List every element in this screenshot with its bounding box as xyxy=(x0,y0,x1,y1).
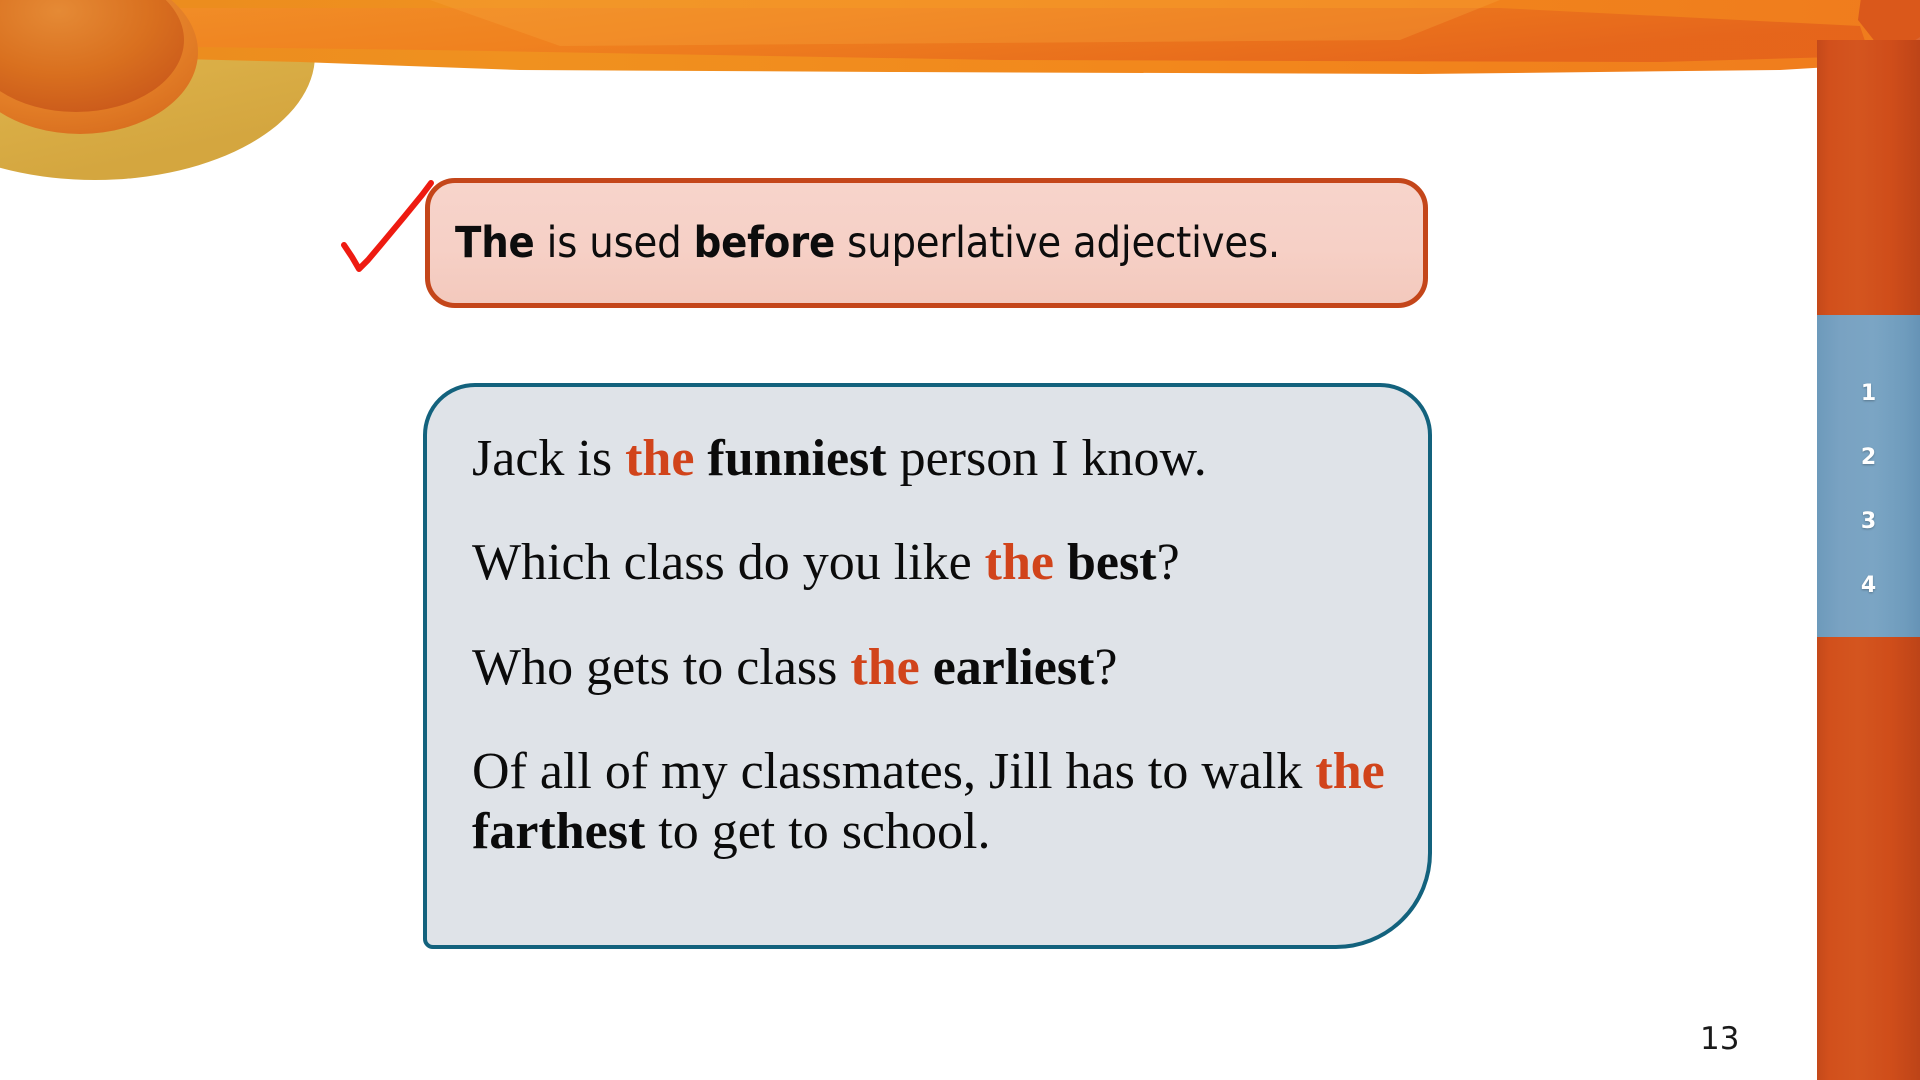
ex2-seg-2 xyxy=(1054,534,1067,591)
ex1-highlight-the: the xyxy=(625,430,694,487)
orange-swoosh-band xyxy=(0,0,1920,74)
ex4-seg-4: to get to school. xyxy=(645,803,990,860)
ex1-bold-superlative: funniest xyxy=(707,430,886,487)
rail-segment-orange-bottom xyxy=(1817,637,1920,1080)
example-line-2: Which class do you like the best? xyxy=(472,533,1388,593)
banner-highlight-sliver xyxy=(430,0,1500,46)
ex3-seg-2 xyxy=(920,639,933,696)
ex4-bold-superlative: farthest xyxy=(472,803,645,860)
ex1-seg-4: person I know. xyxy=(887,430,1207,487)
ex3-seg-4: ? xyxy=(1094,639,1117,696)
slide-canvas: 1 2 3 4 The is used before superlative a… xyxy=(0,0,1920,1080)
ex2-highlight-the: the xyxy=(985,534,1054,591)
ex1-seg-0: Jack is xyxy=(472,430,625,487)
orange-taper-band xyxy=(0,8,1870,62)
ex3-bold-superlative: earliest xyxy=(933,639,1095,696)
rule-word-before: before xyxy=(694,218,835,268)
rail-number-4[interactable]: 4 xyxy=(1849,575,1889,597)
ex4-seg-0: Of all of my classmates, Jill has to wal… xyxy=(472,743,1315,800)
rule-text-tail: superlative adjectives. xyxy=(835,218,1280,268)
gold-circle-decoration xyxy=(0,0,315,180)
example-sentences-box: Jack is the funniest person I know. Whic… xyxy=(423,383,1432,949)
example-line-3: Who gets to class the earliest? xyxy=(472,638,1388,698)
example-line-1: Jack is the funniest person I know. xyxy=(472,429,1388,489)
page-number: 13 xyxy=(1700,1021,1739,1057)
rule-word-the: The xyxy=(455,218,535,268)
rail-number-3[interactable]: 3 xyxy=(1849,511,1889,533)
orange-ball-rim xyxy=(0,0,198,134)
rule-callout-box: The is used before superlative adjective… xyxy=(425,178,1428,308)
ex4-highlight-the: the xyxy=(1315,743,1384,800)
ex2-seg-0: Which class do you like xyxy=(472,534,985,591)
ex1-seg-2 xyxy=(694,430,707,487)
side-rail: 1 2 3 4 xyxy=(1817,0,1920,1080)
rail-segment-orange-top xyxy=(1817,40,1920,315)
ex3-seg-0: Who gets to class xyxy=(472,639,850,696)
rule-callout-text: The is used before superlative adjective… xyxy=(430,218,1280,268)
rail-number-1[interactable]: 1 xyxy=(1849,383,1889,405)
check-mark-icon xyxy=(330,165,450,290)
ex2-bold-superlative: best xyxy=(1067,534,1157,591)
rail-number-2[interactable]: 2 xyxy=(1849,447,1889,469)
ex3-highlight-the: the xyxy=(850,639,919,696)
orange-ball-core xyxy=(0,0,184,112)
example-line-4: Of all of my classmates, Jill has to wal… xyxy=(472,742,1388,863)
ex2-seg-4: ? xyxy=(1157,534,1180,591)
rule-text-mid-1: is used xyxy=(535,218,694,268)
rail-number-list: 1 2 3 4 xyxy=(1817,315,1920,637)
